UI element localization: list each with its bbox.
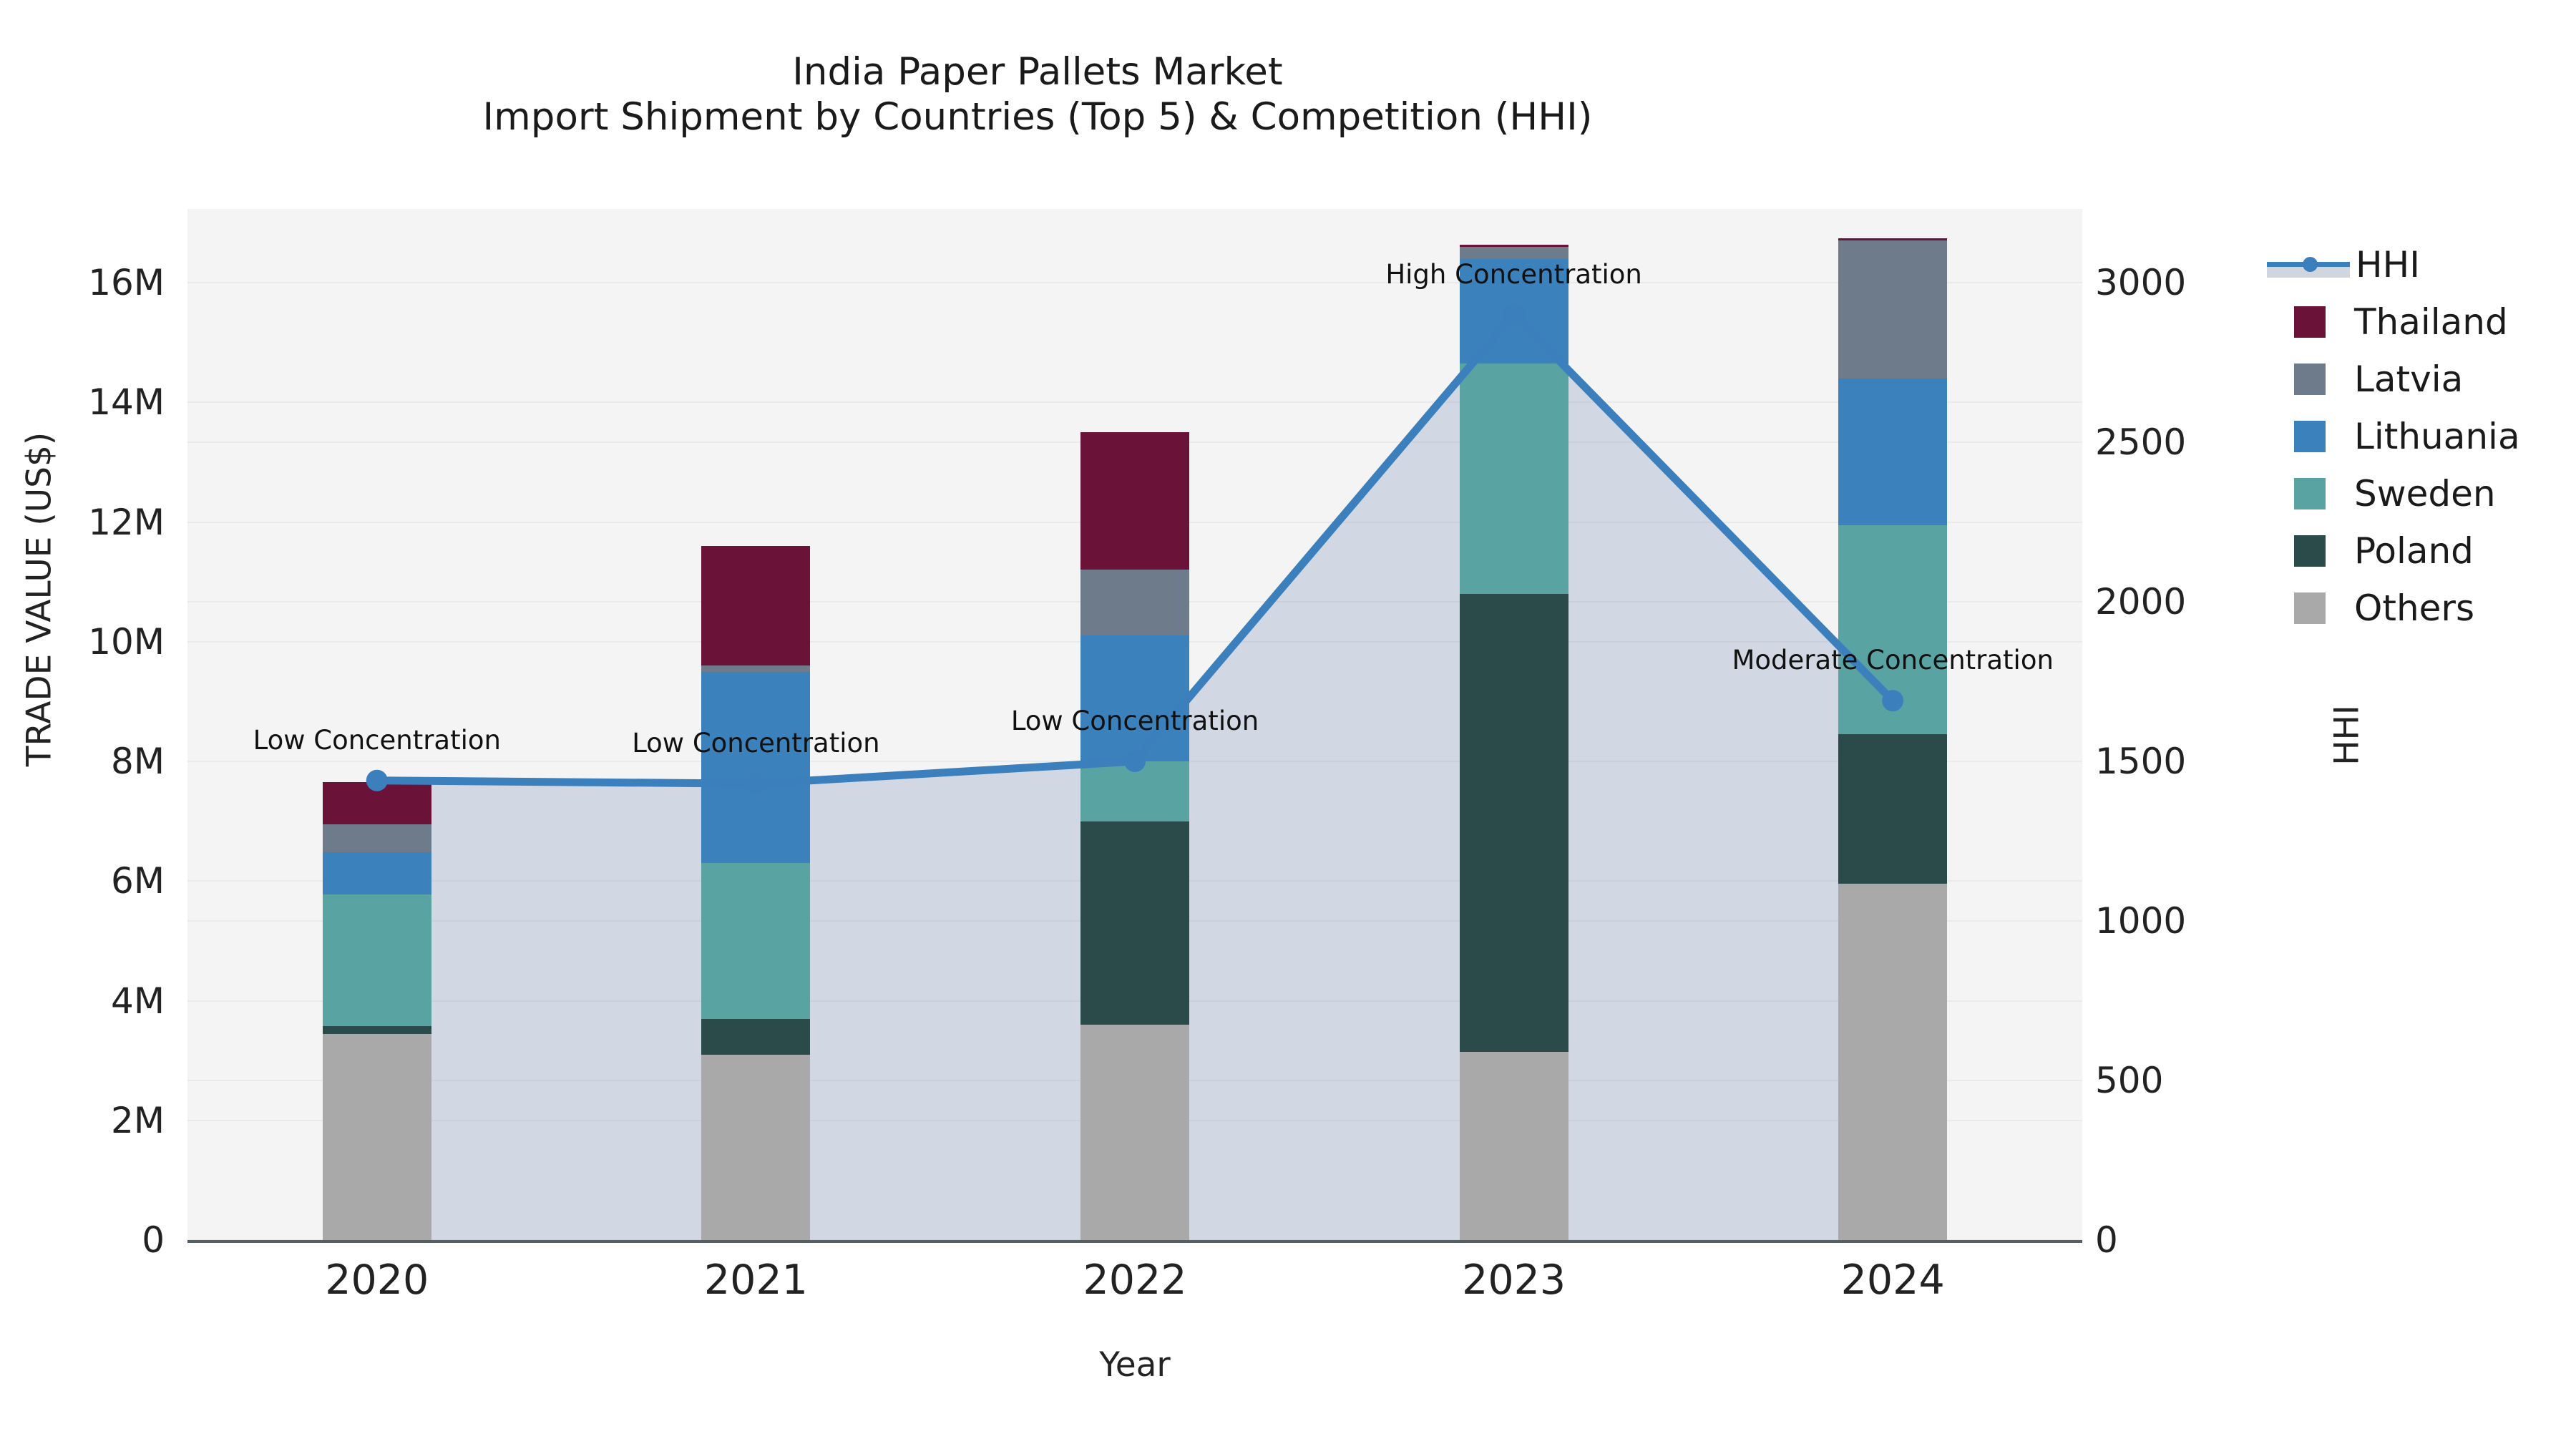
legend-label: Lithuania [2354,416,2520,457]
legend-label: HHI [2356,244,2420,286]
y-axis-left-label: TRADE VALUE (US$) [20,385,59,814]
x-axis-tick: 2023 [1462,1257,1566,1304]
y-axis-right-tick: 2500 [2095,421,2186,463]
y-axis-left-tick: 6M [21,860,165,902]
x-axis-tick: 2021 [704,1257,808,1304]
y-axis-right-label: HHI [2328,643,2367,829]
legend-label: Others [2354,587,2474,629]
legend-marker-dot [2303,257,2318,272]
concentration-annotation: Low Concentration [253,725,501,756]
legend-color-swatch [2294,592,2326,624]
concentration-annotation: Moderate Concentration [1732,645,2053,675]
legend-label: Thailand [2354,301,2508,343]
x-axis-label: Year [1099,1345,1171,1385]
hhi-marker[interactable] [745,773,766,794]
concentration-annotation: Low Concentration [1011,706,1259,736]
legend-item[interactable]: Lithuania [2267,408,2575,465]
legend-color-swatch [2294,535,2326,567]
x-axis-tick: 2020 [325,1257,429,1304]
chart-legend: HHIThailandLatviaLithuaniaSwedenPolandOt… [2267,236,2575,637]
y-axis-left-tick: 2M [21,1100,165,1141]
y-axis-left-tick: 4M [21,980,165,1022]
y-axis-left-tick: 16M [21,262,165,303]
legend-item[interactable]: Thailand [2267,293,2575,351]
concentration-annotation: High Concentration [1385,259,1642,290]
legend-label: Poland [2354,530,2474,572]
legend-label: Latvia [2354,358,2463,400]
y-axis-right-tick: 0 [2095,1219,2118,1261]
hhi-marker[interactable] [366,770,388,791]
legend-label: Sweden [2354,473,2496,514]
concentration-annotation: Low Concentration [632,728,879,758]
x-axis-tick: 2024 [1841,1257,1945,1304]
y-axis-right-tick: 2000 [2095,581,2186,623]
legend-item[interactable]: Poland [2267,522,2575,580]
hhi-marker[interactable] [1503,304,1525,326]
legend-item[interactable]: HHI [2267,236,2575,293]
legend-item[interactable]: Others [2267,580,2575,637]
legend-item[interactable]: Sweden [2267,465,2575,522]
legend-color-swatch [2294,478,2326,509]
hhi-marker[interactable] [1882,690,1903,711]
x-axis-line [187,1240,2082,1243]
legend-line-swatch [2267,249,2350,280]
x-axis-tick: 2022 [1083,1257,1186,1304]
legend-color-swatch [2294,421,2326,452]
chart-root: India Paper Pallets Market Import Shipme… [0,0,2576,1449]
hhi-marker[interactable] [1124,751,1146,772]
legend-color-swatch [2294,364,2326,395]
y-axis-left-tick: 0 [21,1219,165,1261]
y-axis-right-tick: 1500 [2095,741,2186,782]
chart-title: India Paper Pallets Market Import Shipme… [0,50,2075,140]
legend-item[interactable]: Latvia [2267,351,2575,408]
chart-title-line-2: Import Shipment by Countries (Top 5) & C… [0,95,2075,140]
y-axis-right-tick: 1000 [2095,900,2186,942]
legend-color-swatch [2294,306,2326,338]
y-axis-right-tick: 500 [2095,1060,2163,1101]
chart-title-line-1: India Paper Pallets Market [0,50,2075,95]
y-axis-right-tick: 3000 [2095,262,2186,303]
